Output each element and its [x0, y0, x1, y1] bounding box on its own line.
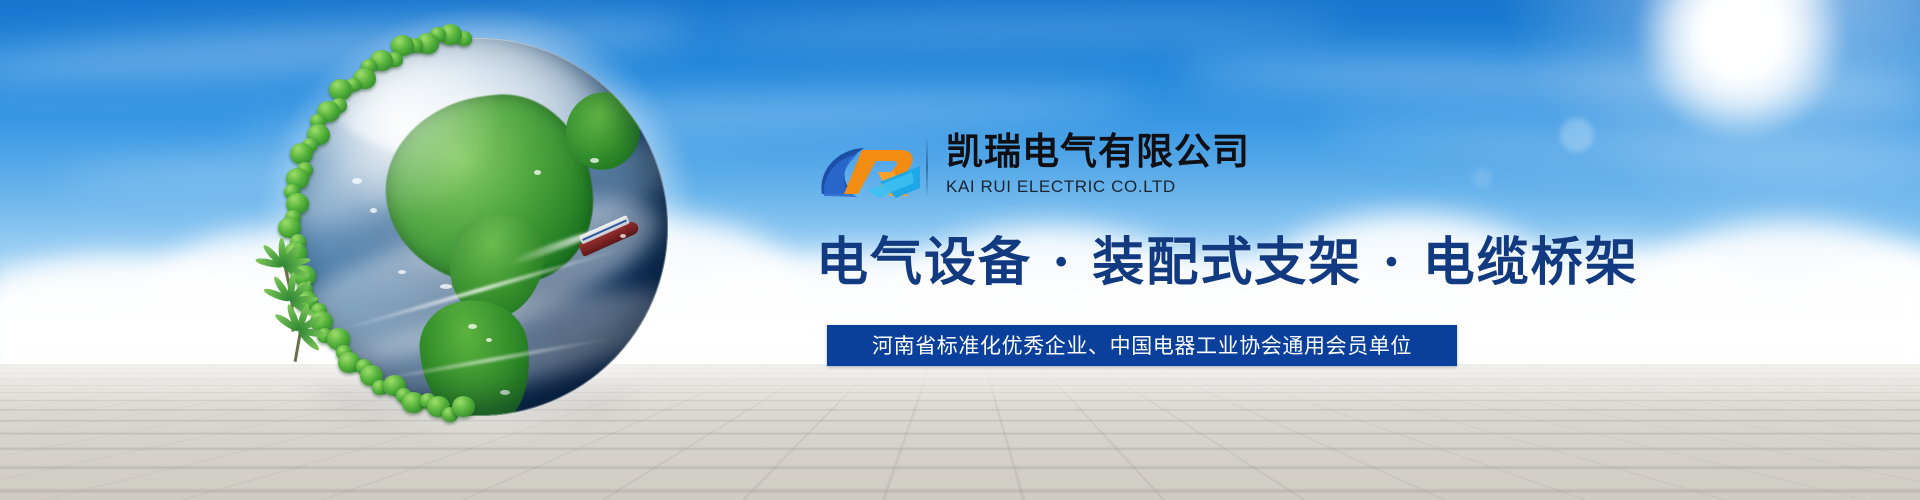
brand-block: 凯瑞电气有限公司 KAI RUI ELECTRIC CO.LTD — [816, 130, 1336, 220]
lens-flare — [1472, 168, 1492, 188]
tree-icon — [290, 143, 313, 164]
headline-text: 电气设备 · 装配式支架 · 电缆桥架 — [816, 232, 1639, 294]
badge-label: 河南省标准化优秀企业、中国电器工业协会通用会员单位 — [872, 334, 1412, 358]
tree-icon — [452, 396, 475, 417]
tree-ring — [272, 28, 686, 428]
brand-text: 凯瑞电气有限公司 KAI RUI ELECTRIC CO.LTD — [946, 130, 1250, 198]
cr-monogram-logo — [816, 136, 924, 202]
hero-banner: 凯瑞电气有限公司 KAI RUI ELECTRIC CO.LTD 电气设备 · … — [0, 0, 1920, 500]
status-badge: 河南省标准化优秀企业、中国电器工业协会通用会员单位 — [827, 325, 1457, 366]
cloud-wisp — [700, 8, 1340, 49]
brand-divider — [926, 138, 928, 196]
company-name-en: KAI RUI ELECTRIC CO.LTD — [946, 176, 1250, 198]
globe-illustration — [268, 28, 688, 448]
tree-icon — [329, 79, 352, 100]
lens-flare — [1560, 118, 1594, 152]
company-name-cn: 凯瑞电气有限公司 — [946, 130, 1250, 174]
